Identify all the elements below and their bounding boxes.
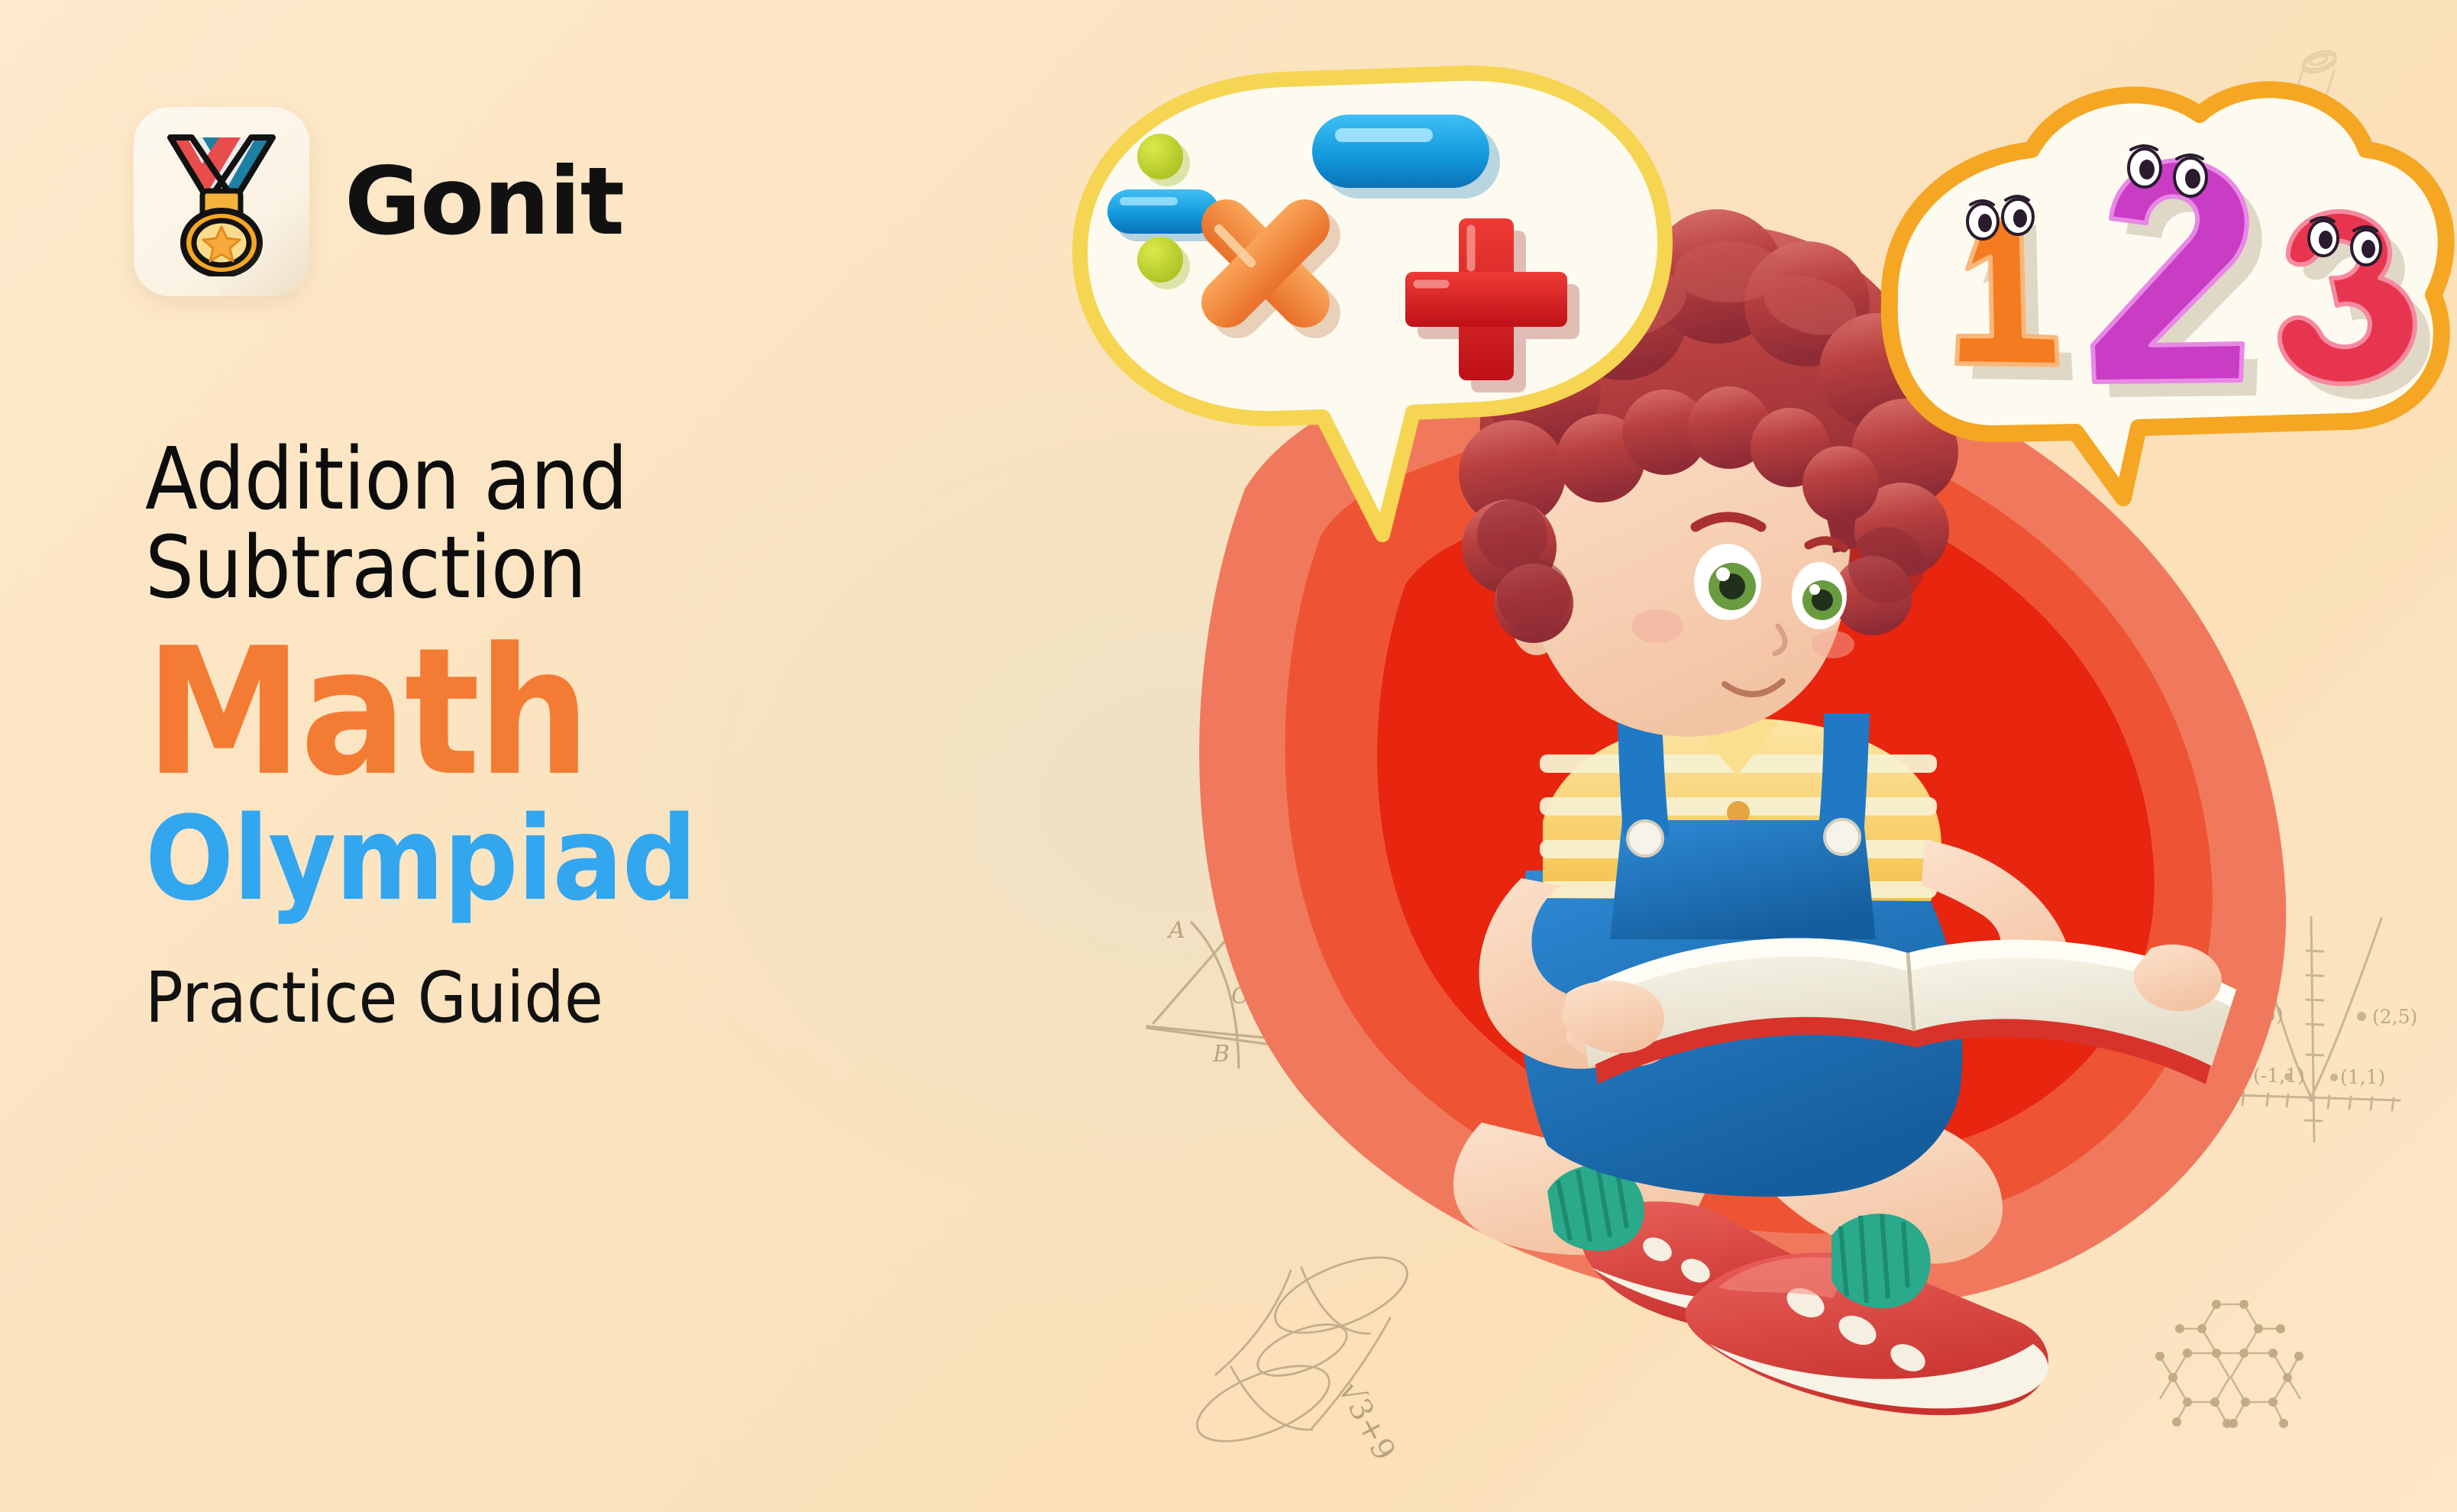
logo-badge	[134, 107, 309, 296]
badge-shadow	[218, 182, 309, 296]
minus-symbol	[1312, 115, 1500, 199]
poster-canvas: A C B √3+9	[0, 0, 2457, 1512]
brand-name: Gonit	[344, 155, 624, 248]
headline-kicker: Addition and Subtraction	[145, 435, 955, 613]
headline-title-secondary: Olympiad	[145, 801, 955, 917]
headline-subtitle: Practice Guide	[145, 957, 955, 1039]
numbers-speech-bubble	[1890, 89, 2446, 498]
headline-title-primary: Math	[145, 630, 955, 797]
headline-block: Addition and Subtraction Math Olympiad P…	[145, 435, 955, 1039]
illustration	[1054, 0, 2457, 1512]
brand-logo-row[interactable]: Gonit	[134, 107, 624, 296]
